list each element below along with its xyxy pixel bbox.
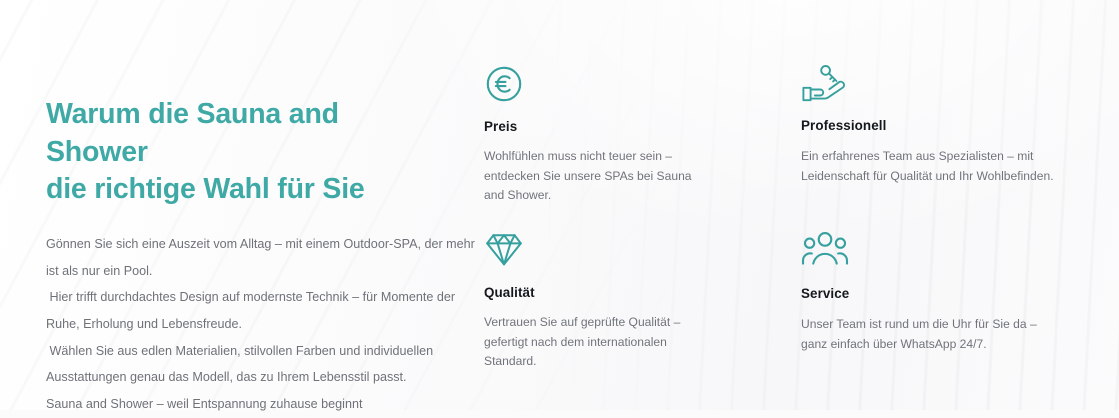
feature-service: Service Unser Team ist rund um die Uhr f… (801, 230, 1063, 355)
page-title: Warum die Sauna and Shower die richtige … (46, 96, 446, 209)
intro-line: Hier trifft durchdachtes Design auf mode… (46, 284, 446, 311)
intro-line: Ausstattungen genau das Modell, das zu I… (46, 364, 446, 391)
people-group-icon (801, 230, 1063, 274)
feature-title: Qualität (484, 285, 696, 300)
euro-circle-icon (484, 64, 696, 108)
intro-paragraph: Gönnen Sie sich eine Auszeit vom Alltag … (46, 231, 446, 418)
intro-block: Warum die Sauna and Shower die richtige … (46, 96, 446, 418)
benefits-section: Warum die Sauna and Shower die richtige … (0, 0, 1119, 410)
feature-title: Service (801, 286, 1063, 301)
feature-title: Professionell (801, 118, 1063, 133)
feature-description: Unser Team ist rund um die Uhr für Sie d… (801, 314, 1063, 355)
feature-qualitaet: Qualität Vertrauen Sie auf geprüfte Qual… (484, 230, 696, 372)
feature-description: Ein erfahrenes Team aus Spezialisten – m… (801, 146, 1063, 187)
feature-description: Wohlfühlen muss nicht teuer sein – entde… (484, 147, 696, 206)
feature-title: Preis (484, 119, 696, 134)
intro-line: ist als nur ein Pool. (46, 258, 446, 285)
intro-line: Sauna and Shower – weil Entspannung zuha… (46, 391, 446, 418)
intro-line: Ruhe, Erholung und Lebensfreude. (46, 311, 446, 338)
page-title-line-1: Warum die Sauna and Shower (46, 98, 339, 168)
intro-line: Gönnen Sie sich eine Auszeit vom Alltag … (46, 231, 446, 258)
intro-line: Wählen Sie aus edlen Materialien, stilvo… (46, 338, 446, 365)
feature-description: Vertrauen Sie auf geprüfte Qualität – ge… (484, 313, 696, 372)
hand-holding-key-icon (801, 62, 1063, 106)
page-title-line-2: die richtige Wahl für Sie (46, 173, 365, 205)
feature-professionell: Professionell Ein erfahrenes Team aus Sp… (801, 62, 1063, 187)
feature-preis: Preis Wohlfühlen muss nicht teuer sein –… (484, 64, 696, 206)
diamond-icon (484, 230, 696, 274)
